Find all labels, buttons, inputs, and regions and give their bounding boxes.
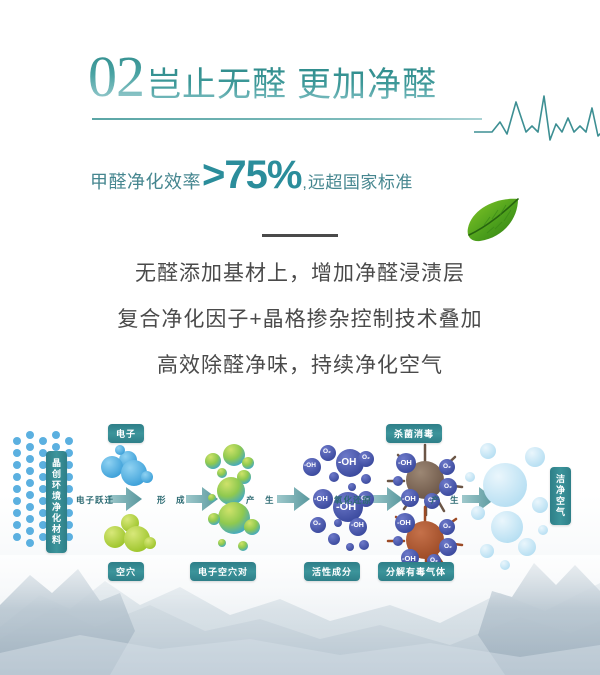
body-line-2: 复合净化因子+晶格掺杂控制技术叠加: [0, 302, 600, 338]
title-part1: 岂止无醛: [147, 66, 287, 104]
title-part2: 更加净醛: [287, 66, 437, 104]
diagram-pill-decompose: 分解有毒气体: [378, 562, 454, 581]
arrow-label-generation-2: 产 生: [431, 494, 460, 506]
promo-page: 02 岂止无醛更加净醛 甲醛净化效率 >75% , 远超国家标准 无醛添加基材上…: [0, 0, 600, 675]
subtitle-comma: ,: [302, 175, 306, 193]
body-line-3: 高效除醛净味，持续净化空气: [0, 348, 600, 384]
diagram-pill-active-species: 活性成分: [304, 562, 360, 581]
arrow-label-generation-1: 产 生: [246, 494, 275, 506]
diagram-pill-electron: 电子: [108, 424, 144, 443]
clean-air-bubbles: [465, 443, 561, 570]
diagram-pill-sterilize: 杀菌消毒: [386, 424, 442, 443]
subtitle-value: >75%: [202, 155, 301, 195]
diagram-source-label: 晶创环境净化材料: [46, 451, 67, 553]
divider: [262, 234, 338, 237]
electron-cluster: [101, 445, 153, 486]
arrow-label-electron-transition: 电子跃迁: [76, 494, 114, 506]
diagram-pill-hole: 空穴: [108, 562, 144, 581]
green-leaf-icon: [462, 196, 524, 244]
page-title: 02 岂止无醛更加净醛: [88, 48, 558, 138]
subtitle-lead: 甲醛净化效率: [90, 168, 201, 194]
arrow-label-formation: 形 成: [157, 494, 186, 506]
hole-cluster: [104, 514, 156, 552]
arrow-label-redox: 氧化还原: [334, 494, 372, 506]
purification-process-diagram: -OH -OH O₂ O₂ -OH -OH -OH O₂ O₂ -OH O₂ O…: [0, 415, 600, 595]
section-number: 02: [88, 48, 144, 106]
body-text: 无醛添加基材上，增加净醛浸渍层 复合净化因子+晶格掺杂控制技术叠加 高效除醛净味…: [0, 256, 600, 394]
diagram-pill-electron-hole-pair: 电子空穴对: [190, 562, 256, 581]
title-underline: [92, 118, 482, 120]
diagram-result-label: 洁净空气: [550, 467, 571, 525]
heartbeat-line-icon: [474, 88, 600, 150]
body-line-1: 无醛添加基材上，增加净醛浸渍层: [0, 256, 600, 292]
title-text: 岂止无醛更加净醛: [147, 65, 437, 105]
subtitle-tail: 远超国家标准: [308, 168, 413, 193]
